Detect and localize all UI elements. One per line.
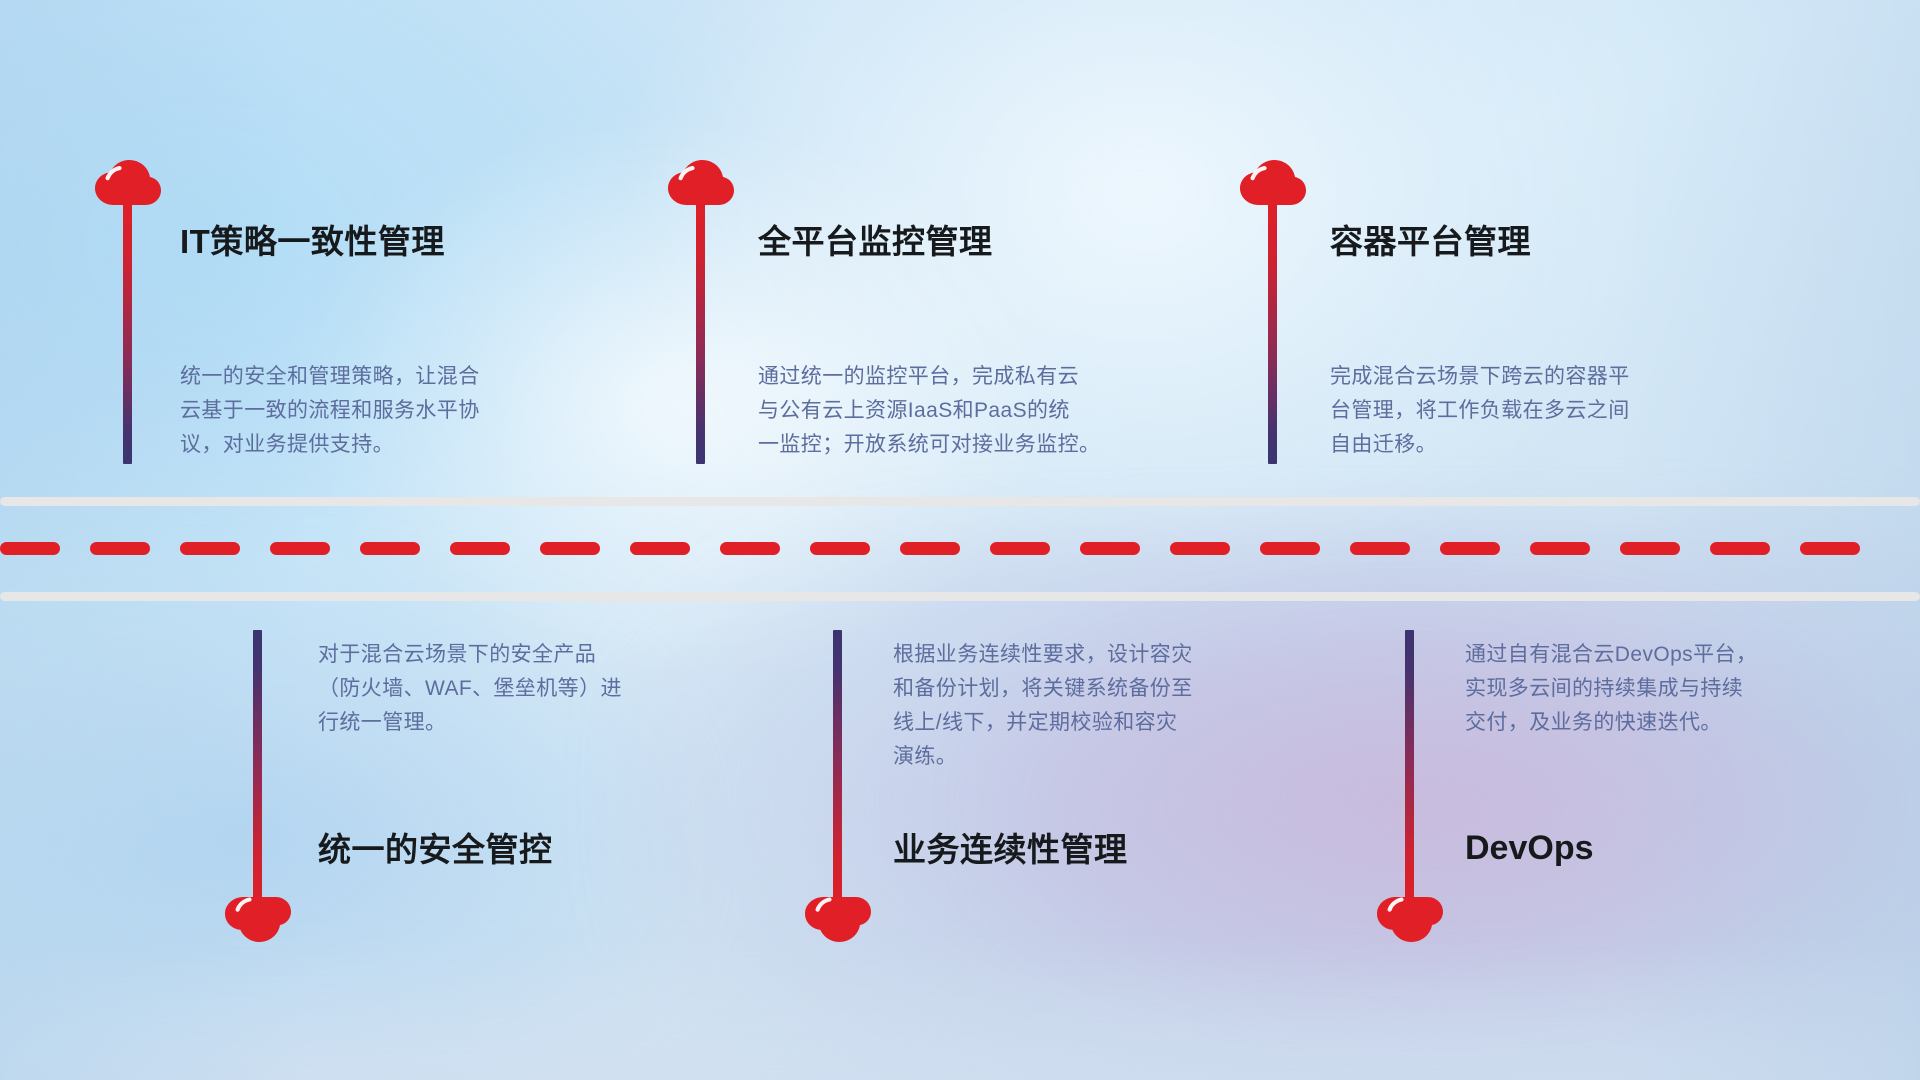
road-dash	[450, 542, 510, 555]
road-dash	[1080, 542, 1140, 555]
cloud-icon	[805, 896, 871, 942]
connector-stem	[1268, 202, 1277, 464]
bottom-item-2-title: 业务连续性管理	[893, 830, 1128, 870]
top-item-1-body: 统一的安全和管理策略，让混合 云基于一致的流程和服务水平协 议，对业务提供支持。	[180, 360, 620, 462]
connector-stem	[696, 202, 705, 464]
road-dash	[720, 542, 780, 555]
road-dash	[1260, 542, 1320, 555]
road-dash	[540, 542, 600, 555]
bottom-item-2-body: 根据业务连续性要求，设计容灾 和备份计划，将关键系统备份至 线上/线下，并定期校…	[893, 638, 1323, 774]
road-dash	[1170, 542, 1230, 555]
bottom-item-3-body: 通过自有混合云DevOps平台， 实现多云间的持续集成与持续 交付，及业务的快速…	[1465, 638, 1895, 740]
road-dash	[180, 542, 240, 555]
connector-stem	[1405, 630, 1414, 910]
road-line-lower	[0, 592, 1920, 601]
cloud-icon	[225, 896, 291, 942]
road-dash	[270, 542, 330, 555]
top-item-3-body: 完成混合云场景下跨云的容器平 台管理，将工作负载在多云之间 自由迁移。	[1330, 360, 1780, 462]
cloud-icon	[1377, 896, 1443, 942]
connector-stem	[833, 630, 842, 910]
connector-stem	[123, 202, 132, 464]
road-line-upper	[0, 497, 1920, 506]
road-dash	[900, 542, 960, 555]
road-dash	[1350, 542, 1410, 555]
top-item-2-title: 全平台监控管理	[758, 222, 993, 262]
bottom-item-1-body: 对于混合云场景下的安全产品 （防火墙、WAF、堡垒机等）进 行统一管理。	[318, 638, 748, 740]
bottom-item-3-title: DevOps	[1465, 828, 1594, 869]
road-dash	[810, 542, 870, 555]
road-dash	[1620, 542, 1680, 555]
top-item-2-body: 通过统一的监控平台，完成私有云 与公有云上资源IaaS和PaaS的统 一监控；开…	[758, 360, 1218, 462]
bottom-item-1-title: 统一的安全管控	[318, 830, 553, 870]
road-dash	[360, 542, 420, 555]
road-dash	[1710, 542, 1770, 555]
road-dash	[990, 542, 1050, 555]
road-dash	[1800, 542, 1860, 555]
infographic-canvas: IT策略一致性管理 统一的安全和管理策略，让混合 云基于一致的流程和服务水平协 …	[0, 0, 1920, 1080]
top-item-1-title: IT策略一致性管理	[180, 222, 445, 262]
cloud-icon	[1240, 160, 1306, 206]
cloud-icon	[668, 160, 734, 206]
road-dash	[90, 542, 150, 555]
road-dash	[1530, 542, 1590, 555]
road-dash	[630, 542, 690, 555]
top-item-3-title: 容器平台管理	[1330, 222, 1531, 262]
road-dash	[0, 542, 60, 555]
road-dash	[1440, 542, 1500, 555]
connector-stem	[253, 630, 262, 910]
road-dashed-centerline	[0, 542, 1920, 555]
cloud-icon	[95, 160, 161, 206]
